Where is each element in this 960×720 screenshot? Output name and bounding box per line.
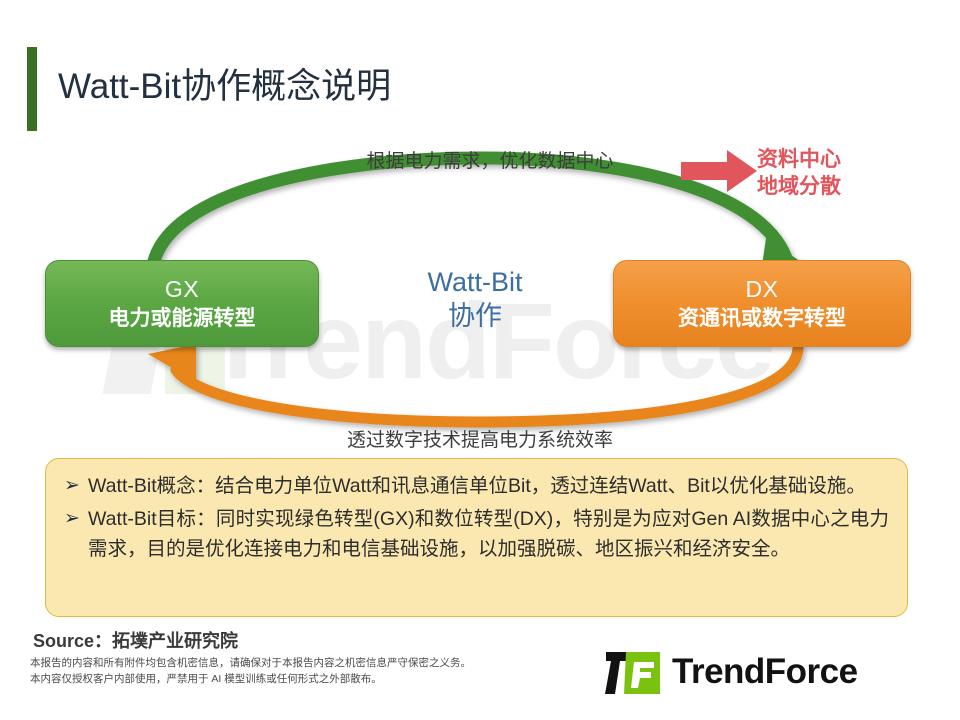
list-item: ➢ Watt-Bit概念：结合电力单位Watt和讯息通信单位Bit，透过连结Wa… [64,471,889,502]
red-callout-line1: 资料中心 [757,146,841,173]
bullet-text: Watt-Bit概念：结合电力单位Watt和讯息通信单位Bit，透过连结Watt… [88,471,889,502]
node-dx-desc: 资通讯或数字转型 [678,304,846,334]
top-caption: 根据电力需求，优化数据中心 [320,146,660,173]
slide-canvas: TrendForce Watt-Bit协作概念说明 根据电力需求，优化数据中心 [0,0,960,720]
bullet-arrow-icon: ➢ [64,471,88,501]
node-dx-code: DX [746,274,779,304]
red-callout-line2: 地域分散 [757,173,841,200]
center-label: Watt-Bit 协作 [360,265,590,333]
disclaimer-line1: 本报告的内容和所有附件均包含机密信息，请确保对于本报告内容之机密信息严守保密之义… [30,655,471,671]
watt-bit-cycle-diagram: 根据电力需求，优化数据中心 透过数字技术提高电力系统效率 资料中心 地域分散 G… [0,130,960,450]
list-item: ➢ Watt-Bit目标：同时实现绿色转型(GX)和数位转型(DX)，特别是为应… [64,504,889,565]
page-title: Watt-Bit协作概念说明 [58,58,391,109]
trendforce-logo-icon [604,652,662,694]
arrow-dx-to-gx [148,344,798,422]
trendforce-logo-text: TrendForce [672,650,858,694]
node-gx[interactable]: GX 电力或能源转型 [45,260,319,347]
disclaimer-line2: 本内容仅授权客户内部使用，严禁用于 AI 模型训练或任何形式之外部散布。 [30,671,471,687]
bullet-text: Watt-Bit目标：同时实现绿色转型(GX)和数位转型(DX)，特别是为应对G… [88,504,889,565]
trendforce-logo: TrendForce [604,648,934,698]
bullet-arrow-icon: ➢ [64,504,88,534]
node-dx[interactable]: DX 资通讯或数字转型 [613,260,911,347]
center-label-line2: 协作 [360,299,590,333]
source-label: Source：拓墣产业研究院 [33,627,238,653]
red-callout: 资料中心 地域分散 [757,146,841,200]
title-accent-bar [27,47,37,131]
bottom-caption: 透过数字技术提高电力系统效率 [280,425,680,452]
summary-box: ➢ Watt-Bit概念：结合电力单位Watt和讯息通信单位Bit，透过连结Wa… [45,458,908,617]
right-arrow-icon [681,148,759,194]
disclaimer: 本报告的内容和所有附件均包含机密信息，请确保对于本报告内容之机密信息严守保密之义… [30,655,471,687]
node-gx-desc: 电力或能源转型 [109,304,256,334]
center-label-line1: Watt-Bit [360,265,590,299]
node-gx-code: GX [165,274,199,304]
